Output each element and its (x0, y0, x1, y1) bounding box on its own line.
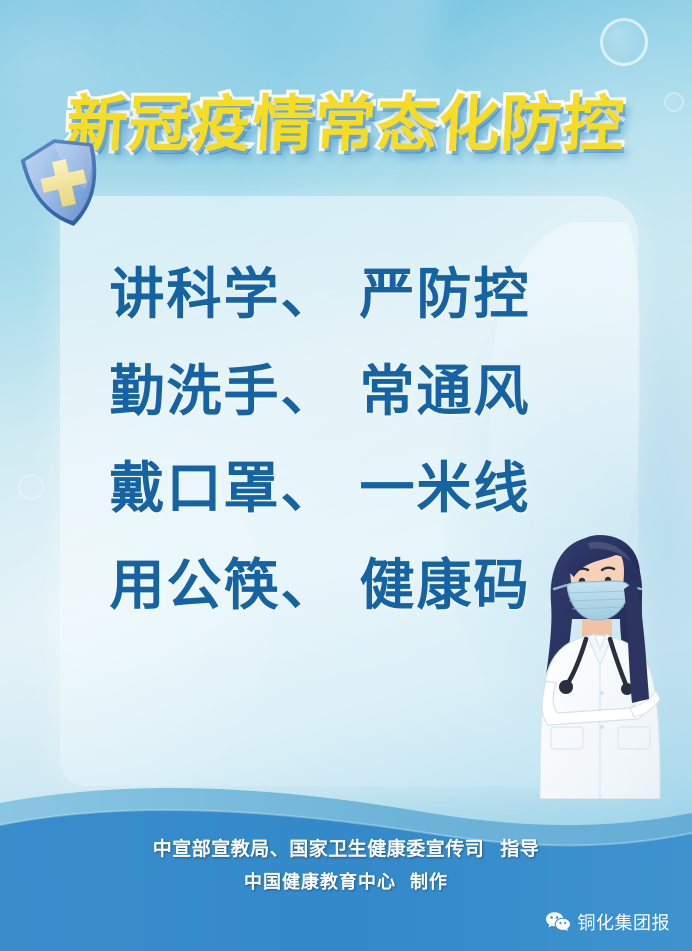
poster-canvas: 新冠疫情常态化防控 讲科学、严防控 (0, 0, 692, 951)
slogan-3-left: 戴口罩、 (109, 456, 337, 520)
doctor-button-1 (600, 691, 604, 695)
credit-line-secondary: 中国健康教育中心制作 (0, 868, 692, 894)
credit-line-primary: 中宣部宣教局、国家卫生健康委宣传司指导 (0, 834, 692, 861)
credit-organizations: 中宣部宣教局、国家卫生健康委宣传司 (153, 838, 485, 860)
credit-role: 指导 (500, 838, 539, 860)
slogan-2-left: 勤洗手、 (109, 359, 337, 423)
slogan-3-right: 一米线 (360, 456, 531, 520)
producer-organization: 中国健康教育中心 (244, 872, 396, 893)
slogan-1-left: 讲科学、 (109, 262, 337, 326)
wechat-account-name: 铜化集团报 (578, 909, 671, 935)
stethoscope-chestpiece (559, 680, 573, 694)
slogan-line-2: 勤洗手、常通风 (60, 343, 580, 440)
bubble-ring-tiny-icon (18, 474, 44, 500)
slogan-2-right: 常通风 (360, 359, 531, 423)
slogan-line-4: 用公筷、健康码 (60, 537, 580, 634)
title-container: 新冠疫情常态化防控 (0, 74, 692, 163)
doctor-button-2 (600, 725, 604, 729)
slogan-list: 讲科学、严防控 勤洗手、常通风 戴口罩、一米线 用公筷、健康码 (60, 246, 580, 634)
wechat-icon (545, 911, 571, 933)
wechat-watermark: 铜化集团报 (545, 909, 671, 935)
bubble-ring-large-icon (600, 18, 648, 66)
producer-role: 制作 (410, 872, 448, 893)
page-title: 新冠疫情常态化防控 (65, 74, 628, 163)
slogan-line-3: 戴口罩、一米线 (60, 440, 580, 537)
slogan-line-1: 讲科学、严防控 (60, 246, 580, 343)
slogan-4-right: 健康码 (360, 553, 531, 617)
slogan-4-left: 用公筷、 (109, 553, 337, 617)
footer-credits: 中宣部宣教局、国家卫生健康委宣传司指导 中国健康教育中心制作 (0, 834, 692, 894)
slogan-1-right: 严防控 (360, 262, 531, 326)
